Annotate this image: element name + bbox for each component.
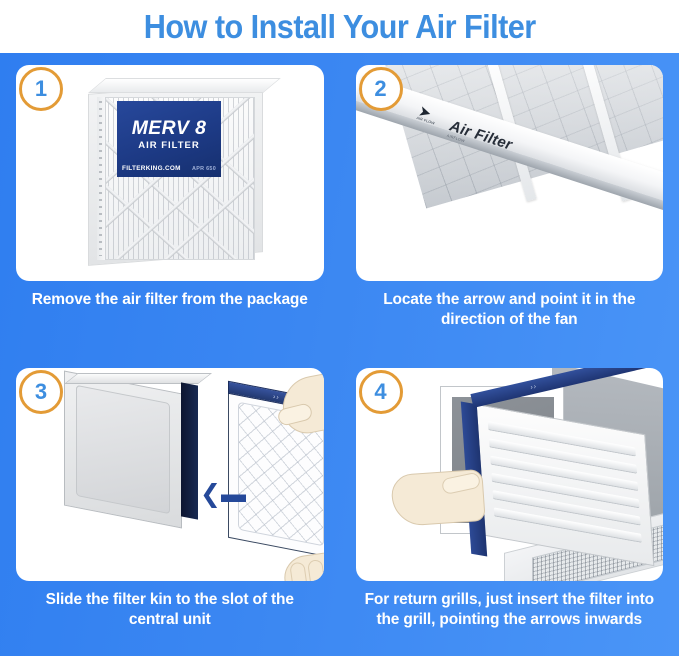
- frame-arrow-mark: ››: [273, 393, 280, 401]
- slide-filter-illustration: ❮▬ ››: [16, 368, 324, 581]
- step-cell-1: 1: [0, 53, 340, 356]
- step-card-1: 1: [16, 65, 324, 281]
- frame-arrow-mark: ››: [529, 383, 537, 391]
- filter-left-edge: [97, 97, 106, 260]
- step-cell-4: 4 ››: [340, 356, 679, 656]
- central-unit-slot: [181, 382, 198, 519]
- page-title: How to Install Your Air Filter: [144, 8, 536, 46]
- step-card-4: 4 ››: [356, 368, 664, 581]
- apr-rating: APR 650: [192, 166, 216, 172]
- central-unit-top: [64, 373, 212, 384]
- step-number-badge-1: 1: [19, 67, 63, 111]
- filter-corner-photo: ➤AIR FLOW Air Filter AIRFLOW: [356, 65, 664, 281]
- hand-holding-grill: [390, 469, 485, 527]
- return-grill-illustration: ››: [356, 368, 664, 581]
- step-card-2: 2 ➤AIR FLOW Air Filt: [356, 65, 664, 281]
- step-image-4: ››: [356, 368, 664, 581]
- step-caption-1: Remove the air filter from the package: [16, 290, 324, 310]
- central-unit-body: [64, 371, 182, 529]
- step-caption-4: For return grills, just insert the filte…: [356, 590, 664, 631]
- step-number-badge-2: 2: [359, 67, 403, 111]
- step-number-badge-4: 4: [359, 370, 403, 414]
- product-label: ♛ FILTER KING: [117, 101, 221, 177]
- filter-top-edge: [88, 78, 281, 93]
- product-label-footer: FILTERKING.COM APR 650: [122, 165, 216, 172]
- step-cell-2: 2 ➤AIR FLOW Air Filt: [340, 53, 679, 356]
- website-url: FILTERKING.COM: [122, 165, 181, 172]
- step-caption-3: Slide the filter kin to the slot of the …: [16, 590, 324, 631]
- merv-rating: MERV 8: [117, 118, 221, 140]
- step-image-3: ❮▬ ››: [16, 368, 324, 581]
- product-type: AIR FILTER: [117, 140, 221, 151]
- hand-lower: [281, 548, 323, 581]
- insert-direction-arrow-icon: ❮▬: [200, 482, 246, 507]
- infographic-page: How to Install Your Air Filter 1: [0, 0, 679, 656]
- header: How to Install Your Air Filter: [0, 0, 679, 53]
- step-card-3: 3 ❮▬ ››: [16, 368, 324, 581]
- step-image-2: ➤AIR FLOW Air Filter AIRFLOW: [356, 65, 664, 281]
- filter-product-photo: ♛ FILTER KING: [88, 87, 263, 262]
- steps-grid: 1: [0, 53, 679, 656]
- step-cell-3: 3 ❮▬ ››: [0, 356, 340, 656]
- step-image-1: ♛ FILTER KING: [16, 65, 324, 281]
- step-caption-2: Locate the arrow and point it in the dir…: [356, 290, 664, 331]
- step-number-badge-3: 3: [19, 370, 63, 414]
